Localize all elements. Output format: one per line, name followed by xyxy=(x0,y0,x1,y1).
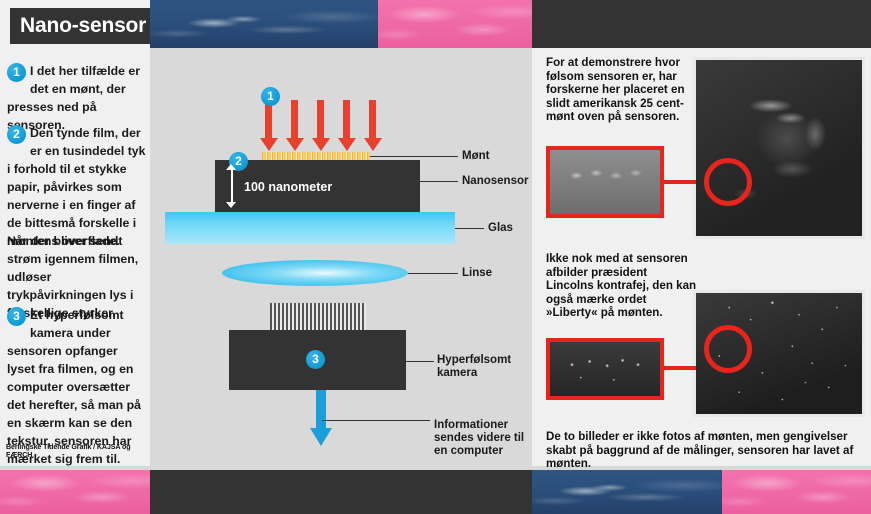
step-badge-1: 1 xyxy=(7,63,26,82)
right-paragraph-1: For at demonstrere hvor følsom sensoren … xyxy=(546,56,696,124)
page-title: Nano-sensor xyxy=(10,14,146,38)
infographic-page: Nano-sensor 1 I det her tilfælde er det … xyxy=(0,0,871,514)
inset-speckle-detail xyxy=(546,338,664,400)
leader-line-lens xyxy=(408,273,458,274)
lens-shape xyxy=(222,260,408,286)
strip-texture xyxy=(378,0,532,48)
bottom-strip-dark xyxy=(150,470,532,514)
leader-line-output xyxy=(322,420,430,421)
leader-line-camera xyxy=(406,361,434,362)
inset-liberty-detail xyxy=(546,146,664,218)
label-glass: Glas xyxy=(488,222,513,235)
label-lens: Linse xyxy=(462,267,492,280)
list-item-text: Den tynde film, der er en tusindedel tyk… xyxy=(7,126,146,248)
pressure-arrow xyxy=(290,100,299,151)
sensor-image-lincoln xyxy=(693,57,865,239)
bottom-caption: De to billeder er ikke fotos af mønten, … xyxy=(546,430,866,471)
top-strip-dark xyxy=(532,0,871,48)
thickness-arrow xyxy=(226,164,237,208)
label-output: Informationer sendes videre til en compu… xyxy=(434,419,530,458)
leader-line-coin xyxy=(370,156,458,157)
sensor-grid xyxy=(270,303,366,333)
glass-layer xyxy=(165,212,455,244)
right-paragraph-2: Ikke nok med at sensoren afbilder præsid… xyxy=(546,252,698,320)
top-strip-pink xyxy=(378,0,532,48)
label-camera: Hyperfølsomt kamera xyxy=(437,354,529,380)
strip-texture xyxy=(532,470,722,514)
pressure-arrow xyxy=(264,100,273,151)
callout-ring-liberty xyxy=(704,158,752,206)
leader-line-glass xyxy=(455,228,484,229)
callout-ring-liberty-2 xyxy=(704,325,752,373)
list-item-text: I det her tilfælde er det en mønt, der p… xyxy=(7,64,140,132)
title-bar: Nano-sensor xyxy=(10,8,150,44)
pressure-arrow xyxy=(368,100,377,151)
top-strip-blue xyxy=(150,0,378,48)
label-nanosensor: Nanosensor xyxy=(462,175,528,188)
step-badge-1-diagram: 1 xyxy=(261,87,280,106)
bottom-strip-pink-left xyxy=(0,470,150,514)
strip-texture xyxy=(150,0,378,48)
step-badge-3: 3 xyxy=(7,307,26,326)
step-badge-2: 2 xyxy=(7,125,26,144)
credit-line: Berlingske Tidende Grafik / KAJSA og FÆR… xyxy=(6,443,156,459)
strip-texture xyxy=(722,470,871,514)
callout-connector-1 xyxy=(662,180,696,184)
output-arrow xyxy=(310,390,332,446)
leader-line-nanosensor xyxy=(420,181,458,182)
strip-texture xyxy=(0,470,150,514)
thickness-label: 100 nanometer xyxy=(244,180,332,194)
pressure-arrow xyxy=(316,100,325,151)
step-badge-3-diagram: 3 xyxy=(306,350,325,369)
label-coin: Mønt xyxy=(462,150,489,163)
bottom-strip-blue xyxy=(532,470,722,514)
callout-connector-2 xyxy=(662,366,696,370)
center-diagram-column xyxy=(150,48,532,466)
pressure-arrow xyxy=(342,100,351,151)
sensor-image-speckle xyxy=(693,290,865,417)
bottom-strip-pink-right xyxy=(722,470,871,514)
